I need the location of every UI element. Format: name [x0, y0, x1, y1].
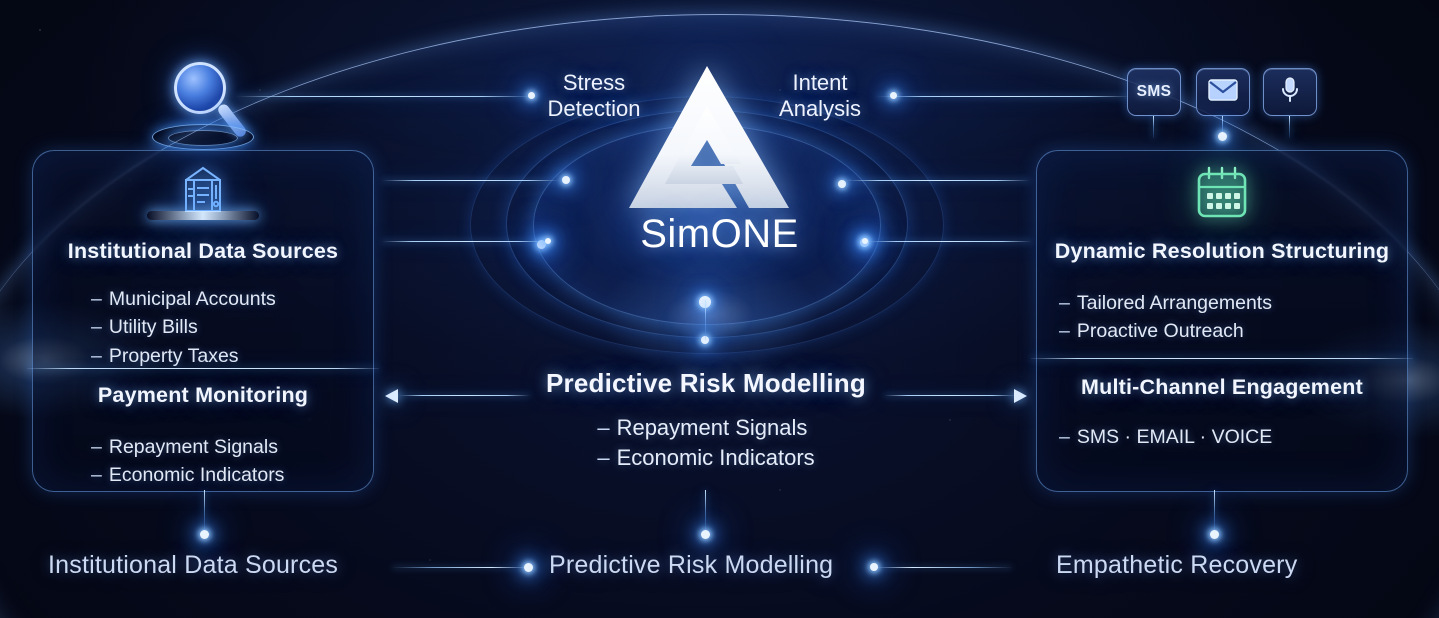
rail-right-mid — [866, 241, 1032, 242]
list-item: –Repayment Signals — [597, 413, 814, 443]
center-predictive-block: Predictive Risk Modelling –Repayment Sig… — [430, 368, 982, 474]
capability-right-line2: Analysis — [734, 96, 906, 122]
list-item-label: Repayment Signals — [109, 436, 278, 458]
capability-left-line2: Detection — [508, 96, 680, 122]
list-item: –Proactive Outreach — [1059, 317, 1272, 345]
footer-label-predictive: Predictive Risk Modelling — [549, 551, 833, 580]
channel-drop-sms — [1153, 116, 1154, 138]
rail-node-left-mid — [545, 238, 551, 244]
panel-right-divider — [1031, 358, 1413, 359]
footer-node-left — [524, 563, 533, 572]
rail-left-upper — [382, 180, 560, 181]
rail-right-upper — [846, 180, 1030, 181]
bullet-dash: – — [91, 288, 102, 310]
orbit-node-upper-left — [562, 176, 570, 184]
magnifier-icon — [152, 52, 254, 148]
bullet-dash: – — [1059, 320, 1070, 342]
list-item-label: Municipal Accounts — [109, 288, 276, 310]
list-item-label: Tailored Arrangements — [1077, 292, 1272, 314]
footer-label-institutional: Institutional Data Sources — [48, 551, 338, 580]
list-item: –Economic Indicators — [597, 443, 814, 473]
list-item: –Repayment Signals — [91, 433, 284, 461]
drop-center — [705, 490, 706, 534]
panel-right-top-list: –Tailored Arrangements –Proactive Outrea… — [1059, 289, 1272, 346]
panel-right-bottom-title: Multi-Channel Engagement — [1037, 375, 1407, 400]
list-item-label: Economic Indicators — [617, 445, 815, 470]
list-item: –SMS · EMAIL · VOICE — [1059, 423, 1272, 451]
channel-drop-voice — [1289, 116, 1290, 138]
channel-button-email[interactable] — [1196, 68, 1250, 116]
channel-button-sms-label: SMS — [1137, 83, 1172, 101]
drop-node-right — [1210, 530, 1219, 539]
top-rail-right — [876, 96, 1132, 97]
bullet-dash: – — [597, 415, 609, 440]
magnifier-platform-ring-inner — [168, 130, 238, 146]
capability-label-stress-detection: Stress Detection — [508, 70, 680, 122]
panel-left-divider — [27, 368, 379, 369]
channel-hub-node — [1218, 132, 1227, 141]
center-title: Predictive Risk Modelling — [430, 368, 982, 399]
diagram-canvas: SMS — [0, 0, 1439, 618]
drop-node-center — [701, 530, 710, 539]
panel-left-bottom-title: Payment Monitoring — [33, 383, 373, 408]
bullet-dash: – — [597, 445, 609, 470]
list-item-label: Utility Bills — [109, 316, 198, 338]
bullet-dash: – — [1059, 292, 1070, 314]
list-item: –Tailored Arrangements — [1059, 289, 1272, 317]
list-item-label: SMS · EMAIL · VOICE — [1077, 426, 1272, 448]
drop-right-panel — [1214, 490, 1215, 534]
panel-right-icon-wrap — [1037, 165, 1407, 223]
bullet-dash: – — [91, 436, 102, 458]
drop-left-panel — [204, 490, 205, 534]
list-item: –Economic Indicators — [91, 461, 284, 489]
capability-label-intent-analysis: Intent Analysis — [734, 70, 906, 122]
envelope-icon — [1208, 79, 1238, 106]
panel-left-top-title: Institutional Data Sources — [33, 239, 373, 264]
footer-label-empathetic: Empathetic Recovery — [1056, 551, 1297, 580]
capability-right-line1: Intent — [734, 70, 906, 96]
panel-left-bottom-list: –Repayment Signals –Economic Indicators — [91, 433, 284, 490]
list-item: –Municipal Accounts — [91, 285, 276, 313]
center-list: –Repayment Signals –Economic Indicators — [597, 413, 814, 474]
rail-node-right-mid — [862, 238, 868, 244]
list-item-label: Property Taxes — [109, 345, 239, 367]
channel-button-sms[interactable]: SMS — [1127, 68, 1181, 116]
capability-left-line1: Stress — [508, 70, 680, 96]
calendar-icon — [1190, 165, 1254, 223]
microphone-icon — [1279, 76, 1301, 109]
list-item-label: Proactive Outreach — [1077, 320, 1244, 342]
list-item: –Utility Bills — [91, 313, 276, 341]
top-rail-left — [236, 96, 536, 97]
footer-connector-right — [874, 567, 1012, 568]
drop-node-left — [200, 530, 209, 539]
rail-left-mid — [382, 241, 548, 242]
orbit-node-upper-right — [838, 180, 846, 188]
panel-right-top-title: Dynamic Resolution Structuring — [1037, 239, 1407, 264]
arrow-head-right — [1014, 389, 1027, 403]
footer-node-right — [870, 563, 878, 571]
panel-left-icon-glow-bar — [147, 211, 259, 220]
list-item-label: Repayment Signals — [617, 415, 808, 440]
list-item: –Property Taxes — [91, 342, 276, 370]
bullet-dash: – — [91, 345, 102, 367]
bullet-dash: – — [91, 316, 102, 338]
bullet-dash: – — [91, 464, 102, 486]
panel-left-top-list: –Municipal Accounts –Utility Bills –Prop… — [91, 285, 276, 370]
footer-connector-left — [392, 567, 530, 568]
panel-empathetic-recovery[interactable]: Dynamic Resolution Structuring –Tailored… — [1036, 150, 1408, 492]
bullet-dash: – — [1059, 426, 1070, 448]
list-item-label: Economic Indicators — [109, 464, 285, 486]
panel-institutional-data[interactable]: Institutional Data Sources –Municipal Ac… — [32, 150, 374, 492]
center-vertical-connector — [705, 300, 706, 340]
arrow-head-left — [385, 389, 398, 403]
panel-right-bottom-list: –SMS · EMAIL · VOICE — [1059, 423, 1272, 451]
channel-button-voice[interactable] — [1263, 68, 1317, 116]
